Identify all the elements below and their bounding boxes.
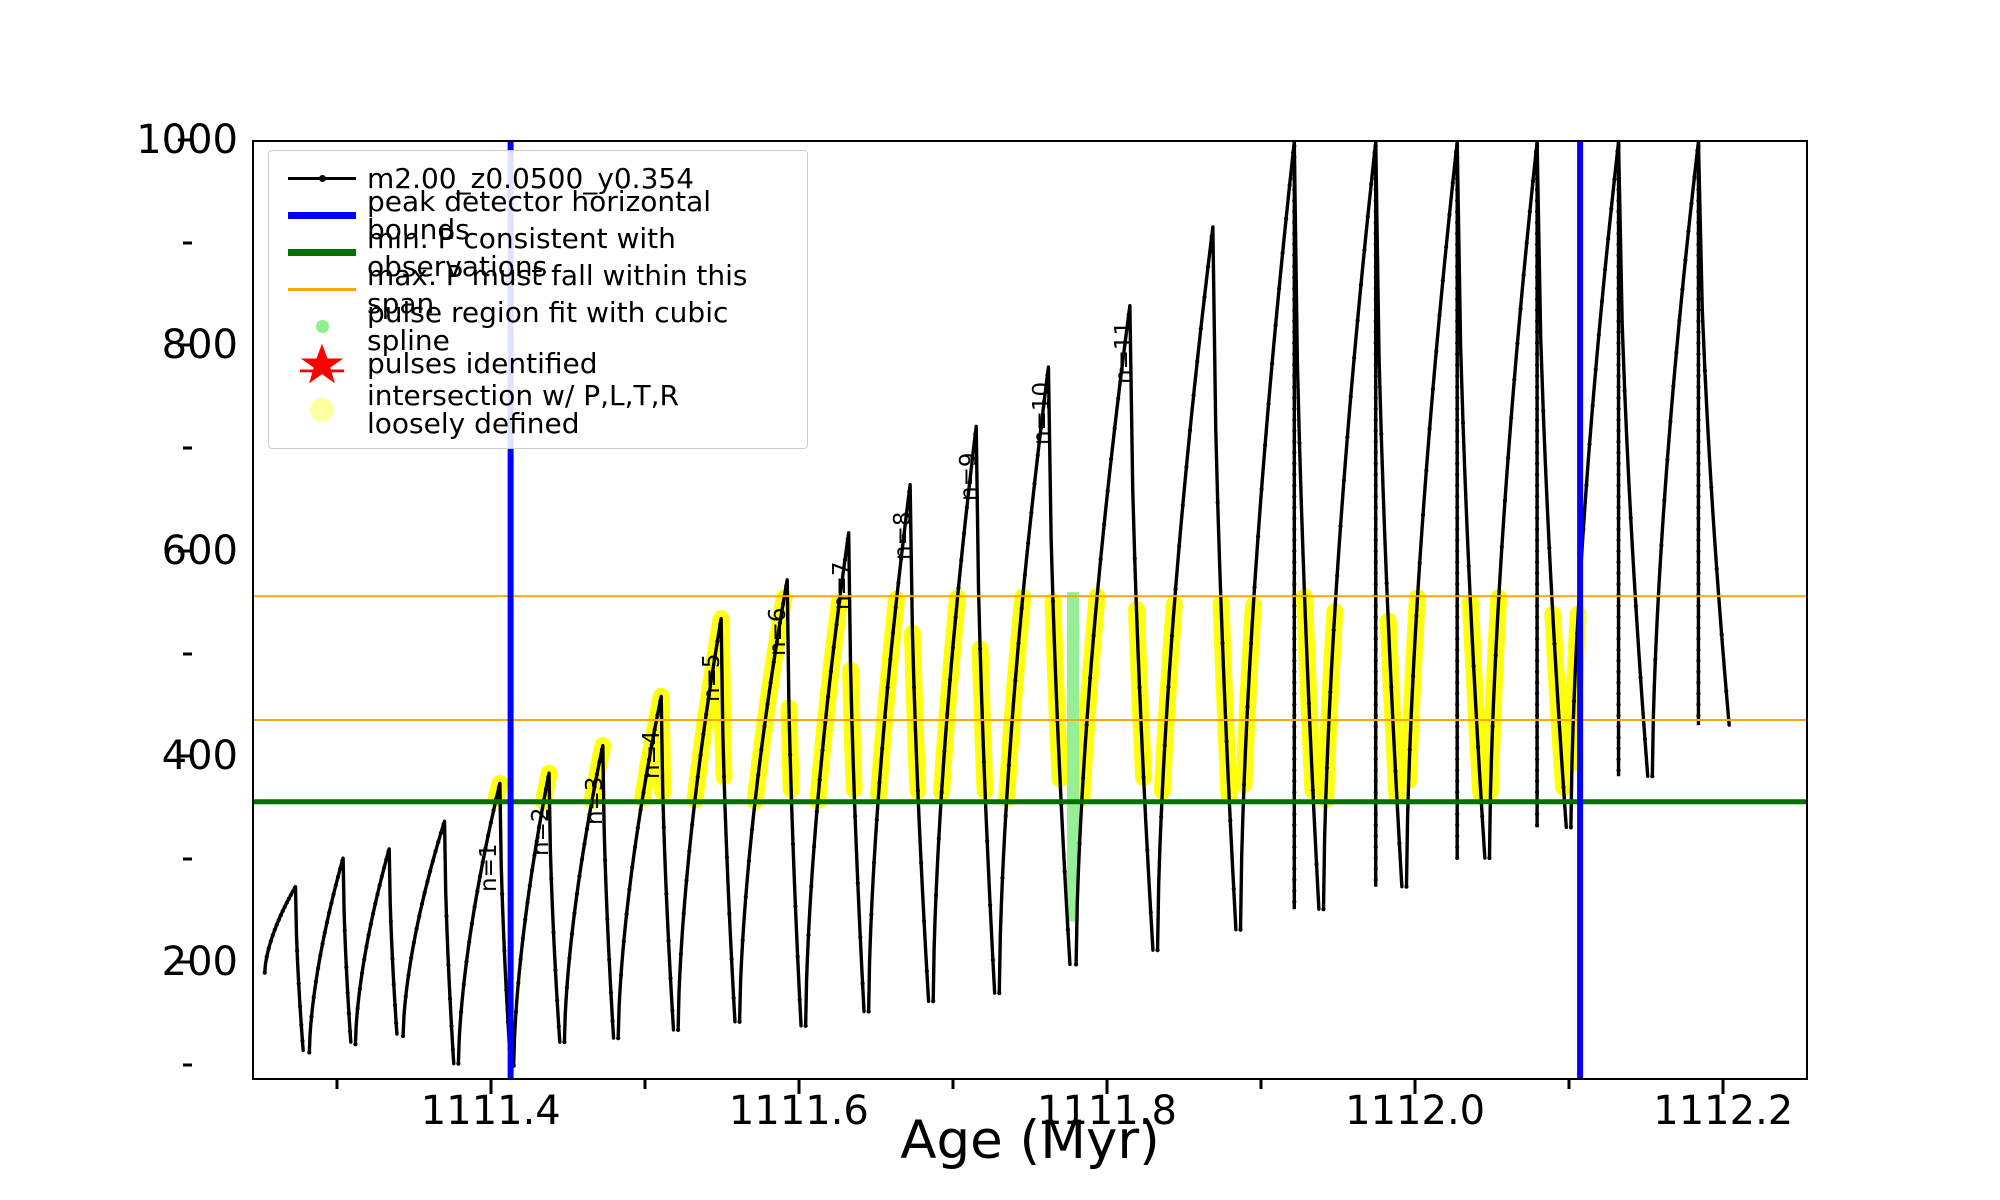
spike-point (1374, 724, 1378, 728)
model-curve-point (853, 814, 857, 818)
spike-point (1455, 681, 1459, 685)
model-curve-point (1650, 774, 1654, 778)
spike-point (1616, 648, 1620, 652)
model-curve-point (382, 866, 386, 870)
model-curve-point (1102, 522, 1106, 526)
model-curve-point (823, 721, 827, 725)
model-curve-point (1026, 541, 1030, 545)
model-curve-point (727, 912, 731, 916)
model-curve-point (1192, 393, 1196, 397)
spike-point (1535, 242, 1539, 246)
model-curve-point (793, 904, 797, 908)
spike-point (1616, 232, 1620, 236)
y-tick-mark-minor (183, 447, 192, 450)
model-curve-point (334, 883, 338, 887)
spike-point (1616, 713, 1620, 717)
pulse-label: n=1 (476, 844, 502, 892)
model-curve-point (622, 939, 626, 943)
model-curve-point (1116, 396, 1120, 400)
spike-point (1535, 790, 1539, 794)
spike-point (1696, 615, 1700, 619)
model-curve-point (798, 998, 802, 1002)
spike-point (1696, 429, 1700, 433)
spike-point (1535, 637, 1539, 641)
model-curve-point (959, 558, 963, 562)
model-curve-point (271, 933, 275, 937)
model-curve-point (1325, 766, 1329, 770)
pulse-label: n=8 (890, 512, 916, 560)
spike-point (1455, 538, 1459, 542)
model-curve-point (962, 531, 966, 535)
model-curve-point (1584, 483, 1588, 487)
spike-point (1292, 779, 1296, 783)
y-tick-label: 200 (162, 939, 238, 985)
spike-point (1374, 768, 1378, 772)
model-curve-point (1686, 229, 1690, 233)
green-line-icon (279, 234, 365, 271)
spike-point (1374, 757, 1378, 761)
model-curve-point (1007, 763, 1011, 767)
model-curve-point (965, 505, 969, 509)
model-curve-point (1461, 421, 1465, 425)
model-curve-point (1552, 642, 1556, 646)
model-curve-point (1424, 468, 1428, 472)
spike-point (1374, 648, 1378, 652)
model-curve-point (263, 971, 267, 975)
model-curve-point (572, 911, 576, 915)
spike-point (1616, 407, 1620, 411)
model-curve-point (551, 930, 555, 934)
model-curve-point (1252, 585, 1256, 589)
spike-point (1616, 275, 1620, 279)
model-curve-point (1199, 327, 1203, 331)
model-curve-point (1623, 389, 1627, 393)
spike-point (1535, 681, 1539, 685)
model-curve-point (1342, 478, 1346, 482)
model-curve-point (279, 913, 283, 917)
y-tick-label: 800 (162, 322, 238, 368)
model-curve-point (658, 699, 662, 703)
spike-point (1696, 483, 1700, 487)
spike-point (1616, 483, 1620, 487)
spike-point (1616, 681, 1620, 685)
model-curve-point (1159, 815, 1163, 819)
model-curve-point (877, 780, 881, 784)
spike-point (1292, 757, 1296, 761)
model-curve-point (1099, 557, 1103, 561)
pulse-label: n=3 (582, 777, 608, 825)
model-curve-point (633, 845, 637, 849)
spike-point (1616, 735, 1620, 739)
spike-point (1292, 812, 1296, 816)
spike-point (1374, 856, 1378, 860)
model-curve-point (275, 923, 279, 927)
model-curve-point (1245, 705, 1249, 709)
x-tick-label: 1112.2 (1653, 1088, 1793, 1134)
spike-point (1374, 746, 1378, 750)
spike-point (1696, 264, 1700, 268)
spike-point (1455, 571, 1459, 575)
model-curve-point (1133, 556, 1137, 560)
spike-point (1374, 615, 1378, 619)
spike-point (1374, 637, 1378, 641)
spike-point (1455, 626, 1459, 630)
spike-point (1292, 418, 1296, 422)
pulse-label: n=4 (639, 731, 665, 779)
spike-point (1455, 352, 1459, 356)
spike-point (1455, 407, 1459, 411)
model-curve-point (600, 747, 604, 751)
model-curve-point (1680, 288, 1684, 292)
spike-point (1374, 144, 1378, 148)
spike-point (1374, 341, 1378, 345)
model-curve-point (446, 963, 450, 967)
x-tick-mark-minor (951, 1080, 954, 1089)
spike-point (1292, 407, 1296, 411)
spike-point (1616, 746, 1620, 750)
spike-point (1374, 429, 1378, 433)
pulse-label: n=7 (829, 561, 855, 609)
spike-point (1374, 330, 1378, 334)
spike-point (1616, 440, 1620, 444)
spike-point (1455, 779, 1459, 783)
spike-point (1374, 670, 1378, 674)
model-curve-point (516, 981, 520, 985)
model-curve-point (722, 775, 726, 779)
model-curve-point (1494, 653, 1498, 657)
spike-point (1535, 659, 1539, 663)
model-curve-segment (403, 821, 454, 1063)
model-curve-point (1418, 561, 1422, 565)
model-curve-point (1674, 350, 1678, 354)
spike-point (1374, 823, 1378, 827)
model-curve-point (1359, 283, 1363, 287)
spike-point (1696, 505, 1700, 509)
model-curve-point (907, 490, 911, 494)
model-curve-point (1643, 737, 1647, 741)
legend-label: pulses identified (365, 350, 598, 378)
spike-point (1455, 429, 1459, 433)
model-curve-point (1297, 441, 1301, 445)
model-curve-point (375, 892, 379, 896)
y-tick-mark (178, 960, 192, 963)
y-tick-label: 400 (162, 733, 238, 779)
spike-point (1292, 516, 1296, 520)
spike-point (1292, 188, 1296, 192)
legend-item-spline[interactable]: pulse region fit with cubic spline (279, 308, 797, 345)
model-curve-point (528, 884, 532, 888)
spike-point (1616, 221, 1620, 225)
model-curve-point (1277, 287, 1281, 291)
spike-point (1455, 166, 1459, 170)
spike-point (1455, 341, 1459, 345)
x-tick-mark-minor (335, 1080, 338, 1089)
spike-point (1616, 429, 1620, 433)
spike-point (1455, 582, 1459, 586)
spike-point (1455, 319, 1459, 323)
spike-point (1696, 659, 1700, 663)
spike-point (1374, 275, 1378, 279)
model-curve-point (285, 901, 289, 905)
model-curve-point (1163, 743, 1167, 747)
spike-point (1292, 659, 1296, 663)
model-curve-point (1703, 369, 1707, 373)
y-tick-mark-minor (183, 1063, 192, 1066)
spike-point (1374, 867, 1378, 871)
model-curve-point (1518, 307, 1522, 311)
model-curve-point (1127, 313, 1131, 317)
spike-point (1292, 363, 1296, 367)
spike-point (1292, 352, 1296, 356)
model-curve-point (856, 881, 860, 885)
model-curve-point (1063, 870, 1067, 874)
model-curve-point (316, 966, 320, 970)
spike-point (1696, 571, 1700, 575)
model-curve-point (265, 955, 269, 959)
model-curve-segment (1158, 227, 1236, 950)
spike-point (1616, 549, 1620, 553)
spike-point (1455, 363, 1459, 367)
spike-point (1535, 221, 1539, 225)
spike-point (1455, 396, 1459, 400)
spike-point (1455, 823, 1459, 827)
model-curve-point (546, 775, 550, 779)
spike-point (1696, 253, 1700, 257)
model-curve-point (931, 999, 935, 1003)
model-curve-point (1662, 498, 1666, 502)
model-curve-point (1149, 910, 1153, 914)
spike-point (1535, 407, 1539, 411)
spike-point (1292, 505, 1296, 509)
spike-point (1696, 341, 1700, 345)
model-curve-point (684, 878, 688, 882)
spike-point (1455, 834, 1459, 838)
spike-point (1535, 144, 1539, 148)
model-curve-point (922, 919, 926, 923)
spike-point (1292, 889, 1296, 893)
model-curve-point (1431, 387, 1435, 391)
spike-point (1455, 451, 1459, 455)
model-curve-point (1013, 678, 1017, 682)
spike-point (1455, 549, 1459, 553)
model-curve-point (1629, 516, 1633, 520)
model-curve-point (1411, 674, 1415, 678)
model-curve-point (1284, 217, 1288, 221)
model-curve-point (1683, 258, 1687, 262)
spike-point (1616, 363, 1620, 367)
spike-point (1696, 440, 1700, 444)
spike-point (1455, 144, 1459, 148)
model-curve-point (1385, 581, 1389, 585)
spike-point (1535, 319, 1539, 323)
model-curve-point (436, 840, 440, 844)
spike-point (1292, 330, 1296, 334)
model-curve-point (364, 945, 368, 949)
model-curve-point (725, 855, 729, 859)
spike-point (1374, 418, 1378, 422)
spike-point (1455, 210, 1459, 214)
model-curve-point (896, 581, 900, 585)
spike-point (1696, 670, 1700, 674)
legend-item-intersection[interactable]: intersection w/ P,L,T,R loosely defined (279, 382, 797, 438)
model-curve-point (1137, 685, 1141, 689)
spike-point (1535, 210, 1539, 214)
spike-point (1696, 407, 1700, 411)
model-curve-point (386, 849, 390, 853)
model-curve-point (327, 911, 331, 915)
spike-point (1535, 703, 1539, 707)
spike-point (1374, 440, 1378, 444)
spike-point (1535, 713, 1539, 717)
spike-point (1374, 790, 1378, 794)
spike-point (1455, 604, 1459, 608)
spike-point (1374, 319, 1378, 323)
spike-point (1696, 472, 1700, 476)
spike-point (1374, 352, 1378, 356)
spike-point (1616, 155, 1620, 159)
model-curve-point (1321, 907, 1325, 911)
model-curve-point (867, 1009, 871, 1013)
spike-point (1696, 166, 1700, 170)
model-curve-point (806, 933, 810, 937)
spike-point (1292, 297, 1296, 301)
model-curve-point (431, 859, 435, 863)
spike-point (1535, 516, 1539, 520)
spike-point (1696, 516, 1700, 520)
spike-point (1616, 341, 1620, 345)
spike-point (1292, 527, 1296, 531)
model-curve-point (860, 981, 864, 985)
spike-point (1374, 177, 1378, 181)
model-curve-point (912, 685, 916, 689)
spike-point (1455, 757, 1459, 761)
model-curve-point (641, 790, 645, 794)
y-tick-mark-minor (183, 652, 192, 655)
star-glyph (299, 341, 345, 387)
model-curve-point (1379, 432, 1383, 436)
spike-point (1292, 166, 1296, 170)
model-curve-point (1600, 299, 1604, 303)
model-curve-point (1224, 739, 1228, 743)
spike-point (1292, 451, 1296, 455)
spike-point (1455, 670, 1459, 674)
spike-point (1616, 264, 1620, 268)
model-curve-point (610, 1019, 614, 1023)
model-curve-point (942, 749, 946, 753)
spike-point (1616, 418, 1620, 422)
x-tick-label: 1111.6 (729, 1088, 869, 1134)
model-curve-point (1036, 453, 1040, 457)
spike-point (1292, 615, 1296, 619)
spike-point (1292, 856, 1296, 860)
model-curve-point (791, 842, 795, 846)
model-curve-point (325, 920, 329, 924)
model-curve-point (619, 973, 623, 977)
spike-point (1535, 757, 1539, 761)
model-curve-point (1692, 175, 1696, 179)
model-curve-point (394, 1021, 398, 1025)
line-dot-icon (279, 160, 365, 197)
model-curve-point (1393, 769, 1397, 773)
model-curve-point (1638, 676, 1642, 680)
spike-point (1292, 341, 1296, 345)
spike-point (1292, 144, 1296, 148)
spike-point (1535, 418, 1539, 422)
model-curve-point (390, 956, 394, 960)
model-curve-point (409, 956, 413, 960)
spike-point (1535, 199, 1539, 203)
spike-point (1696, 177, 1700, 181)
model-curve-point (1004, 814, 1008, 818)
model-curve-point (1177, 544, 1181, 548)
spike-point (1535, 692, 1539, 696)
spike-point (1616, 242, 1620, 246)
spike-point (1535, 724, 1539, 728)
spike-point (1374, 779, 1378, 783)
model-curve-point (784, 584, 788, 588)
model-curve-point (323, 931, 327, 935)
spike-point (1292, 571, 1296, 575)
model-curve-point (1634, 604, 1638, 608)
model-curve-point (1522, 273, 1526, 277)
spike-point (1455, 790, 1459, 794)
y-tick-label: 600 (162, 528, 238, 574)
model-curve-point (281, 909, 285, 913)
spike-point (1292, 735, 1296, 739)
model-curve-point (470, 922, 474, 926)
model-curve-point (287, 897, 291, 901)
model-curve-point (1106, 489, 1110, 493)
spike-point (1292, 308, 1296, 312)
spike-point (1616, 527, 1620, 531)
model-curve-point (1238, 928, 1242, 932)
model-curve-point (1606, 237, 1610, 241)
model-curve-point (1242, 783, 1246, 787)
spike-point (1374, 604, 1378, 608)
spike-point (1696, 396, 1700, 400)
spike-point (1455, 418, 1459, 422)
spike-point (1696, 319, 1700, 323)
pulse-label: n=2 (528, 808, 554, 856)
spike-point (1696, 199, 1700, 203)
spike-point (1616, 319, 1620, 323)
legend-label: intersection w/ P,L,T,R loosely defined (365, 382, 679, 438)
model-curve-point (676, 1028, 680, 1032)
spike-point (1455, 472, 1459, 476)
model-curve-point (1709, 485, 1713, 489)
spike-point (1455, 856, 1459, 860)
model-curve-point (343, 928, 347, 932)
green-dot-icon (279, 308, 365, 345)
model-curve-point (514, 1010, 518, 1014)
spike-point (1455, 637, 1459, 641)
spike-point (1616, 308, 1620, 312)
model-curve-point (1414, 614, 1418, 618)
model-curve-point (875, 818, 879, 822)
model-curve-point (616, 1036, 620, 1040)
x-tick-mark (1106, 1080, 1109, 1094)
model-curve-point (456, 1062, 460, 1066)
model-curve-point (329, 901, 333, 905)
x-tick-mark (1414, 1080, 1417, 1094)
model-curve-point (1677, 318, 1681, 322)
model-curve-point (417, 914, 421, 918)
model-curve-point (502, 949, 506, 953)
model-curve-point (1547, 546, 1551, 550)
model-curve-point (344, 965, 348, 969)
model-curve-point (1561, 785, 1565, 789)
model-curve-point (945, 712, 949, 716)
